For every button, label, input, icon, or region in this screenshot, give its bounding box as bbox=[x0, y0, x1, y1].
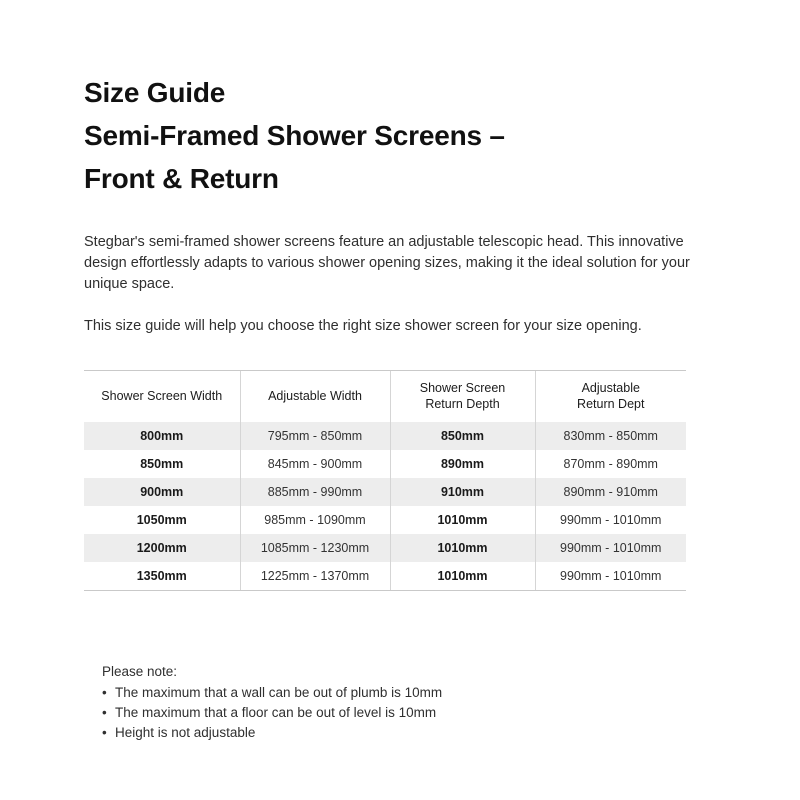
table-row: 1200mm 1085mm - 1230mm 1010mm 990mm - 10… bbox=[84, 534, 686, 562]
cell-shower-screen-width: 800mm bbox=[84, 422, 240, 450]
size-table-body: 800mm 795mm - 850mm 850mm 830mm - 850mm … bbox=[84, 422, 686, 591]
cell-adjustable-return: 830mm - 850mm bbox=[535, 422, 686, 450]
size-table-header: Shower Screen Width Adjustable Width Sho… bbox=[84, 371, 686, 423]
cell-adjustable-return: 890mm - 910mm bbox=[535, 478, 686, 506]
table-row: 1350mm 1225mm - 1370mm 1010mm 990mm - 10… bbox=[84, 562, 686, 591]
cell-shower-screen-width: 1200mm bbox=[84, 534, 240, 562]
size-table: Shower Screen Width Adjustable Width Sho… bbox=[84, 370, 686, 591]
page-title: Size Guide Semi-Framed Shower Screens – … bbox=[84, 71, 714, 200]
page-title-line-1: Size Guide bbox=[84, 71, 714, 114]
cell-shower-screen-width: 900mm bbox=[84, 478, 240, 506]
cell-adjustable-return: 990mm - 1010mm bbox=[535, 562, 686, 591]
cell-return-depth: 890mm bbox=[390, 450, 535, 478]
column-header-shower-screen-return-depth: Shower Screen Return Depth bbox=[390, 371, 535, 423]
cell-adjustable-width: 1085mm - 1230mm bbox=[240, 534, 390, 562]
page-title-line-3: Front & Return bbox=[84, 157, 714, 200]
cell-adjustable-width: 985mm - 1090mm bbox=[240, 506, 390, 534]
column-header-adjustable-width: Adjustable Width bbox=[240, 371, 390, 423]
cell-adjustable-return: 990mm - 1010mm bbox=[535, 506, 686, 534]
cell-adjustable-width: 885mm - 990mm bbox=[240, 478, 390, 506]
table-row: 1050mm 985mm - 1090mm 1010mm 990mm - 101… bbox=[84, 506, 686, 534]
cell-return-depth: 1010mm bbox=[390, 506, 535, 534]
page-title-line-2: Semi-Framed Shower Screens – bbox=[84, 114, 714, 157]
cell-return-depth: 850mm bbox=[390, 422, 535, 450]
column-header-line-1: Shower Screen bbox=[395, 380, 531, 396]
cell-adjustable-return: 990mm - 1010mm bbox=[535, 534, 686, 562]
cell-adjustable-width: 1225mm - 1370mm bbox=[240, 562, 390, 591]
table-header-row: Shower Screen Width Adjustable Width Sho… bbox=[84, 371, 686, 423]
intro-paragraph-2: This size guide will help you choose the… bbox=[84, 316, 704, 337]
column-header-line-2: Return Dept bbox=[540, 396, 683, 412]
notes-heading: Please note: bbox=[102, 662, 662, 682]
list-item: The maximum that a floor can be out of l… bbox=[102, 703, 662, 723]
intro-paragraph-1: Stegbar's semi-framed shower screens fea… bbox=[84, 232, 704, 295]
column-header-line-2: Return Depth bbox=[395, 396, 531, 412]
cell-return-depth: 1010mm bbox=[390, 534, 535, 562]
column-header-line-1: Adjustable Width bbox=[245, 388, 386, 404]
table-row: 800mm 795mm - 850mm 850mm 830mm - 850mm bbox=[84, 422, 686, 450]
size-table-container: Shower Screen Width Adjustable Width Sho… bbox=[84, 370, 686, 591]
cell-shower-screen-width: 850mm bbox=[84, 450, 240, 478]
column-header-shower-screen-width: Shower Screen Width bbox=[84, 371, 240, 423]
cell-adjustable-width: 845mm - 900mm bbox=[240, 450, 390, 478]
notes-section: Please note: The maximum that a wall can… bbox=[102, 662, 662, 743]
cell-return-depth: 910mm bbox=[390, 478, 535, 506]
cell-shower-screen-width: 1350mm bbox=[84, 562, 240, 591]
column-header-line-1: Shower Screen Width bbox=[88, 388, 236, 404]
table-row: 900mm 885mm - 990mm 910mm 890mm - 910mm bbox=[84, 478, 686, 506]
size-guide-page: Size Guide Semi-Framed Shower Screens – … bbox=[0, 0, 800, 800]
cell-return-depth: 1010mm bbox=[390, 562, 535, 591]
list-item: Height is not adjustable bbox=[102, 723, 662, 743]
table-row: 850mm 845mm - 900mm 890mm 870mm - 890mm bbox=[84, 450, 686, 478]
notes-list: The maximum that a wall can be out of pl… bbox=[102, 683, 662, 743]
column-header-line-1: Adjustable bbox=[540, 380, 683, 396]
column-header-adjustable-return-dept: Adjustable Return Dept bbox=[535, 371, 686, 423]
list-item: The maximum that a wall can be out of pl… bbox=[102, 683, 662, 703]
cell-shower-screen-width: 1050mm bbox=[84, 506, 240, 534]
cell-adjustable-width: 795mm - 850mm bbox=[240, 422, 390, 450]
intro-section: Stegbar's semi-framed shower screens fea… bbox=[84, 232, 704, 337]
cell-adjustable-return: 870mm - 890mm bbox=[535, 450, 686, 478]
